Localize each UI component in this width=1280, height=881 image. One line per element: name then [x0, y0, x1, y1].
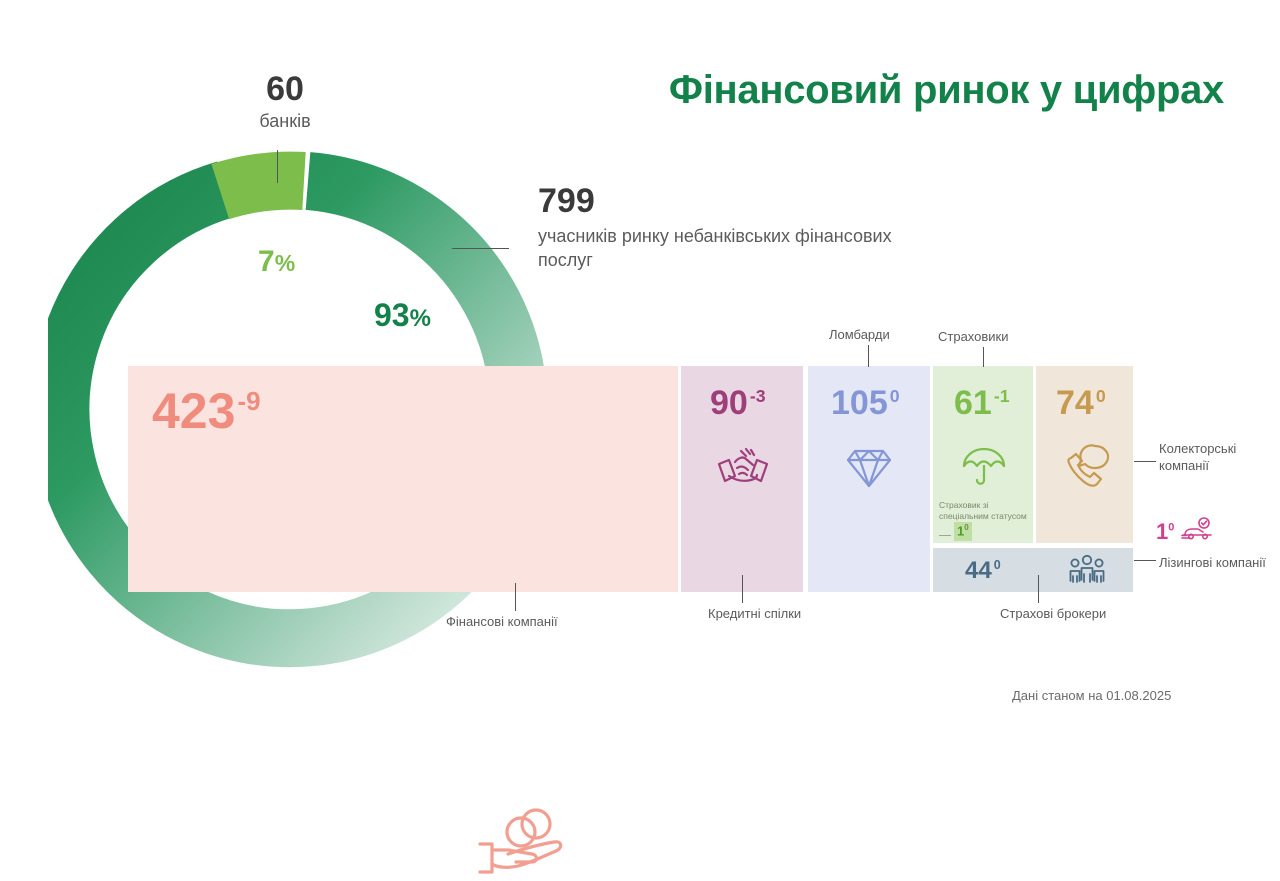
handshake-icon — [715, 444, 771, 493]
note-dash — [939, 535, 951, 536]
financial-label: Фінансові компанії — [446, 613, 626, 630]
banks-label: банків — [200, 111, 370, 132]
nonbank-callout: 799 учасників ринку небанківських фінанс… — [538, 183, 938, 273]
percent-symbol: % — [410, 305, 431, 332]
banks-leader-line — [277, 150, 278, 183]
umbrella-icon — [961, 444, 1007, 493]
collectors-leader-line — [1134, 461, 1156, 462]
insurers-special-note: Страховик зі спеціальним статусом 10 — [939, 500, 1033, 541]
pawn-label: Ломбарди — [829, 326, 939, 343]
footer-note: Дані станом на 01.08.2025 — [1012, 688, 1171, 703]
nonbank-percent: 93% — [374, 297, 431, 334]
infographic-canvas: Фінансовий ринок у цифрах 60 банків — [0, 0, 1280, 720]
leasing-value: 1 — [1156, 519, 1168, 544]
financial-leader-line — [515, 583, 516, 611]
banks-callout: 60 банків — [200, 72, 370, 132]
credit-delta: -3 — [750, 386, 766, 406]
leasing-value-group: 10 — [1156, 521, 1174, 543]
diamond-icon — [844, 446, 894, 495]
block-collectors[interactable]: 740 — [1036, 366, 1133, 543]
brokers-leader-line — [1038, 575, 1039, 603]
banks-percent: 7% — [258, 245, 295, 279]
brokers-value: 44 — [965, 557, 992, 584]
donut-segment-banks — [220, 181, 304, 192]
block-financial-companies[interactable]: 423-9 — [128, 366, 678, 592]
insurers-leader-line — [983, 347, 984, 367]
leasing-leader-line — [1134, 560, 1156, 561]
credit-label: Кредитні спілки — [708, 605, 818, 622]
leasing-label: Лізингові компанії — [1159, 554, 1269, 571]
insurers-label: Страховики — [938, 328, 1048, 345]
block-brokers[interactable]: 440 — [933, 548, 1133, 592]
leasing-stat[interactable]: 10 — [1156, 517, 1214, 546]
nonbank-value: 799 — [538, 183, 938, 220]
insurers-value: 61 — [954, 384, 992, 422]
block-credit-unions[interactable]: 90-3 — [681, 366, 803, 592]
phone-bubble-icon — [1062, 444, 1112, 493]
insurers-note-row: 10 — [939, 522, 1033, 540]
insurers-value-group: 61-1 — [954, 384, 1010, 423]
collectors-delta: 0 — [1096, 386, 1106, 406]
insurers-note-delta: 0 — [964, 523, 968, 532]
brokers-delta: 0 — [994, 558, 1001, 572]
pawn-leader-line — [868, 345, 869, 367]
insurers-note-chip: 10 — [954, 522, 972, 540]
banks-percent-value: 7 — [258, 245, 275, 278]
pawn-value: 105 — [831, 384, 888, 422]
brokers-label: Страхові брокери — [1000, 605, 1110, 622]
hand-coins-icon — [476, 806, 572, 881]
credit-value: 90 — [710, 384, 748, 422]
financial-delta: -9 — [237, 386, 260, 416]
nonbank-percent-value: 93 — [374, 297, 410, 333]
people-icon — [1067, 554, 1107, 591]
pawn-value-group: 1050 — [831, 384, 900, 423]
credit-leader-line — [742, 575, 743, 603]
pawn-delta: 0 — [890, 386, 900, 406]
percent-symbol: % — [275, 250, 295, 276]
insurers-note-label: Страховик зі спеціальним статусом — [939, 500, 1033, 522]
collectors-label: Колекторські компанії — [1159, 440, 1269, 474]
block-pawnshops[interactable]: 1050 — [808, 366, 930, 592]
brokers-value-group: 440 — [965, 557, 1001, 585]
page-title: Фінансовий ринок у цифрах — [604, 68, 1224, 113]
banks-value: 60 — [200, 72, 370, 108]
collectors-value: 74 — [1056, 384, 1094, 422]
leasing-delta: 0 — [1168, 521, 1174, 533]
financial-value-group: 423-9 — [152, 382, 261, 440]
collectors-value-group: 740 — [1056, 384, 1106, 423]
nonbank-leader-line — [452, 248, 509, 249]
car-icon — [1180, 517, 1214, 546]
insurers-delta: -1 — [994, 386, 1010, 406]
credit-value-group: 90-3 — [710, 384, 766, 423]
nonbank-label: учасників ринку небанківських фінансових… — [538, 225, 938, 273]
financial-value: 423 — [152, 383, 235, 439]
block-insurers[interactable]: 61-1 Страховик зі спеціальним статусом 1… — [933, 366, 1033, 543]
